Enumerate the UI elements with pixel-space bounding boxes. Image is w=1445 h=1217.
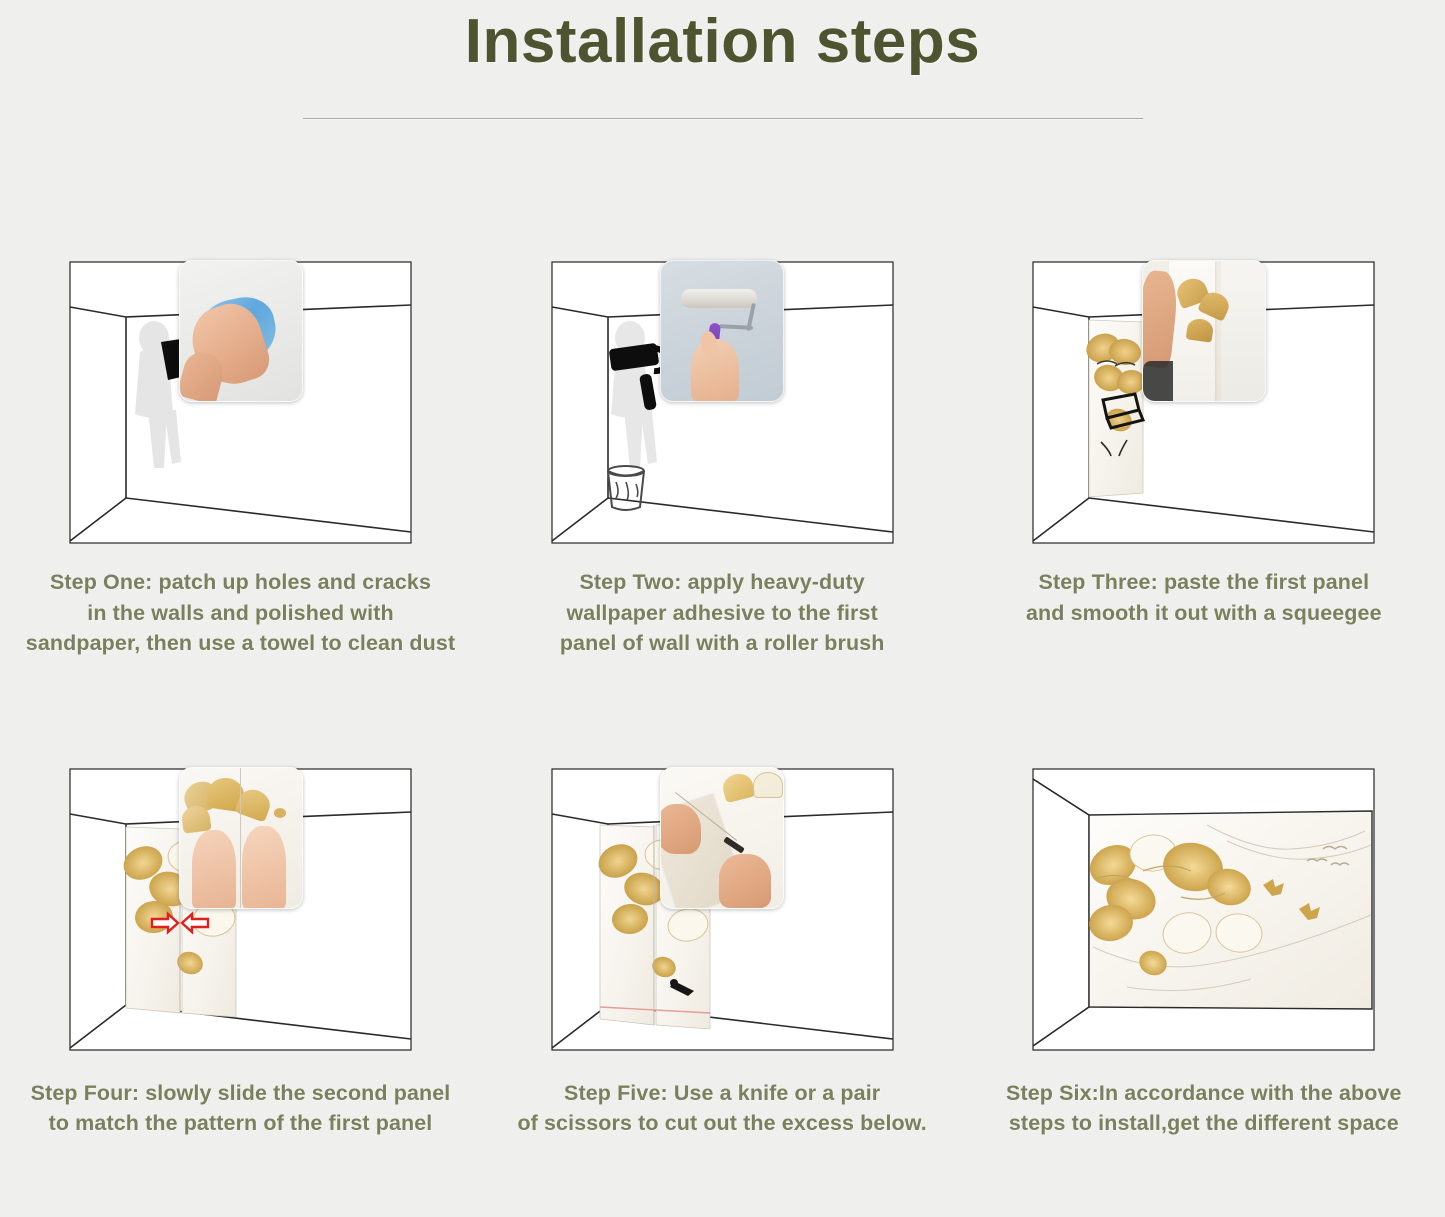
photo-inset-paint-roller — [660, 260, 784, 402]
step-caption-four: Step Four: slowly slide the second panel… — [0, 1078, 481, 1139]
roller-arm-icon — [719, 324, 753, 330]
caption-line: Step Six:In accordance with the above — [963, 1078, 1444, 1109]
caption-line: Step Two: apply heavy-duty — [482, 567, 963, 598]
caption-line: Step Five: Use a knife or a pair — [482, 1078, 963, 1109]
step-caption-six: Step Six:In accordance with the above st… — [963, 1078, 1444, 1139]
caption-line: Step One: patch up holes and cracks — [0, 567, 481, 598]
right-hand-icon — [719, 854, 771, 908]
right-hand-icon — [242, 826, 286, 908]
first-panel — [1082, 320, 1147, 497]
caption-line: Step Four: slowly slide the second panel — [0, 1078, 481, 1109]
room-perspective-svg — [1031, 767, 1376, 1052]
step-card-one: Step One: patch up holes and cracks in t… — [0, 150, 481, 659]
header-divider — [303, 118, 1143, 120]
step-card-two: Step Two: apply heavy-duty wallpaper adh… — [482, 150, 963, 659]
caption-line: to match the pattern of the first panel — [0, 1108, 481, 1139]
caption-line: in the walls and polished with — [0, 598, 481, 629]
step-card-six: Step Six:In accordance with the above st… — [963, 659, 1444, 1139]
caption-line: and smooth it out with a squeegee — [963, 598, 1444, 629]
butterfly-icon — [274, 808, 286, 818]
caption-line: of scissors to cut out the excess below. — [482, 1108, 963, 1139]
step-card-five: Step Five: Use a knife or a pair of scis… — [482, 659, 963, 1139]
roller-head-icon — [681, 289, 757, 308]
installation-steps-page: Installation steps — [0, 0, 1445, 1217]
caption-line: sandpaper, then use a towel to clean dus… — [0, 628, 481, 659]
photo-inset-pasting-panel — [1142, 260, 1266, 402]
caption-line: steps to install,get the different space — [963, 1108, 1444, 1139]
step-caption-five: Step Five: Use a knife or a pair of scis… — [482, 1078, 963, 1139]
step-card-three: Step Three: paste the first panel and sm… — [963, 150, 1444, 659]
page-title: Installation steps — [0, 8, 1445, 76]
caption-line: panel of wall with a roller brush — [482, 628, 963, 659]
step-caption-two: Step Two: apply heavy-duty wallpaper adh… — [482, 567, 963, 659]
ginkgo-leaf-icon — [720, 770, 755, 802]
step-caption-three: Step Three: paste the first panel and sm… — [963, 567, 1444, 628]
photo-inset-matching-pattern — [179, 767, 303, 909]
ginkgo-leaf-outline-icon — [753, 772, 783, 798]
photo-inset-cutting-excess — [660, 767, 784, 909]
photo-inset-hand-cloth — [179, 260, 303, 402]
room-diagram-six — [1031, 767, 1376, 1052]
left-hand-icon — [660, 804, 701, 854]
left-hand-icon — [192, 830, 236, 908]
page-header: Installation steps — [0, 0, 1445, 120]
shadow-region — [1143, 361, 1173, 401]
caption-line: Step Three: paste the first panel — [963, 567, 1444, 598]
panel-strip-icon — [1221, 261, 1265, 401]
step-caption-one: Step One: patch up holes and cracks in t… — [0, 567, 481, 659]
steps-grid: Step One: patch up holes and cracks in t… — [0, 150, 1445, 1139]
step-card-four: Step Four: slowly slide the second panel… — [0, 659, 481, 1139]
caption-line: wallpaper adhesive to the first — [482, 598, 963, 629]
